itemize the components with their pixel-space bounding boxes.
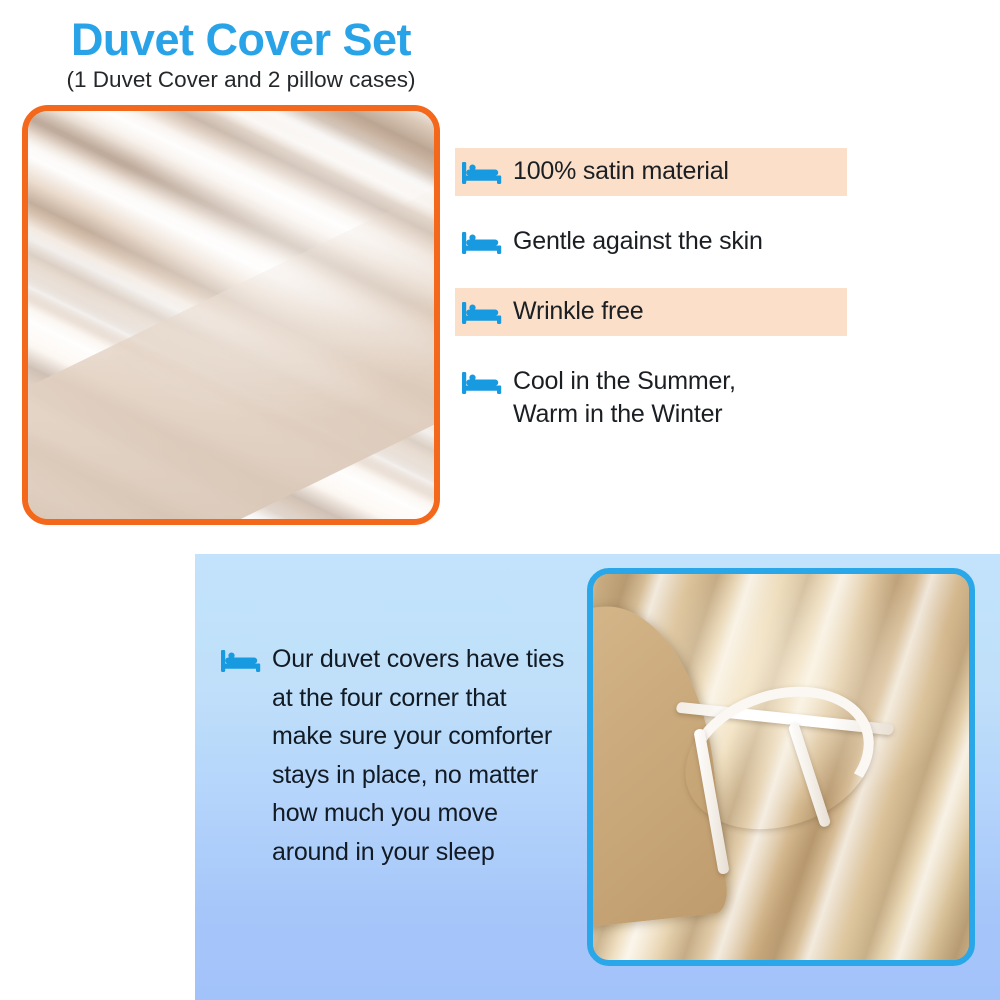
bed-icon [461,298,503,328]
bed-icon [461,158,503,188]
tie-feature-text-block: Our duvet covers have ties at the four c… [220,640,570,871]
bed-icon [220,646,262,676]
page-title: Duvet Cover Set [26,16,456,63]
page-subtitle: (1 Duvet Cover and 2 pillow cases) [26,68,456,93]
corner-tie-photo [587,568,975,966]
feature-item-wrinkle-free: Wrinkle free [455,288,847,336]
satin-fabric-photo [22,105,440,525]
tie-feature-label: Our duvet covers have ties at the four c… [272,640,570,871]
feature-item-cool-summer-warm-winter: Cool in the Summer, Warm in the Winter [455,358,847,437]
feature-label: Wrinkle free [513,294,644,328]
feature-item-gentle-skin: Gentle against the skin [455,218,847,266]
bed-icon [461,228,503,258]
feature-label: Gentle against the skin [513,224,763,258]
feature-label: 100% satin material [513,154,729,188]
bed-icon [461,368,503,398]
feature-list: 100% satin material Gentle against the s… [455,148,847,459]
satin-sheen-overlay [28,111,434,519]
product-infographic: Duvet Cover Set (1 Duvet Cover and 2 pil… [0,0,1000,1000]
feature-label: Cool in the Summer, Warm in the Winter [513,364,736,431]
feature-item-satin-material: 100% satin material [455,148,847,196]
